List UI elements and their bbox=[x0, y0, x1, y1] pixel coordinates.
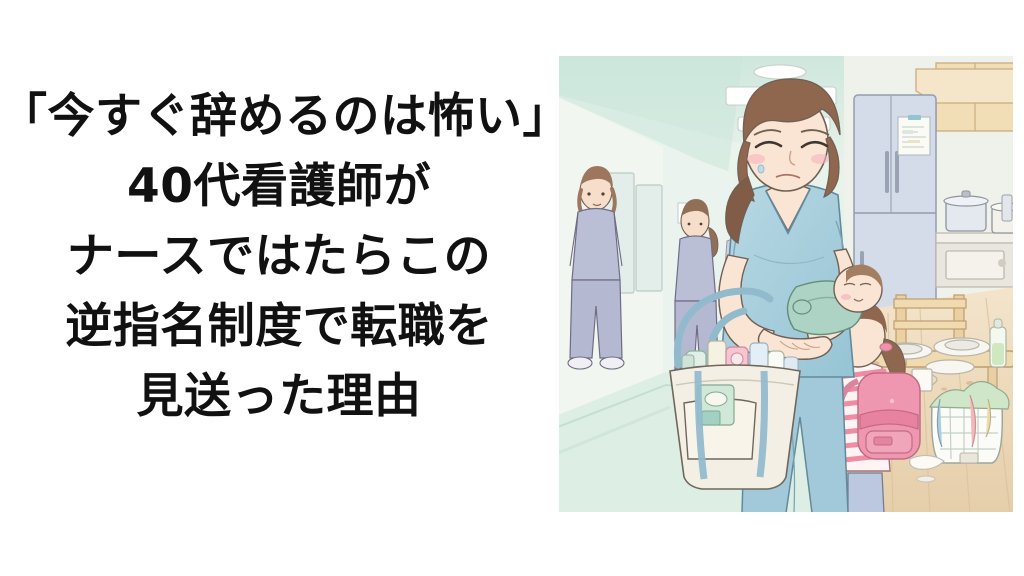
title-line-1: 「今すぐ辞めるのは怖い」 bbox=[0, 82, 558, 152]
illustration-image bbox=[558, 55, 1014, 513]
title-line-3: ナースではたらこの bbox=[0, 222, 558, 292]
page-title: 「今すぐ辞めるのは怖い」 40代看護師が ナースではたらこの 逆指名制度で転職を… bbox=[0, 82, 558, 432]
title-line-4: 逆指名制度で転職を bbox=[0, 292, 558, 362]
title-line-5: 見送った理由 bbox=[0, 362, 558, 432]
title-line-2: 40代看護師が bbox=[0, 152, 558, 222]
slide-canvas: 「今すぐ辞めるのは怖い」 40代看護師が ナースではたらこの 逆指名制度で転職を… bbox=[0, 0, 1024, 576]
